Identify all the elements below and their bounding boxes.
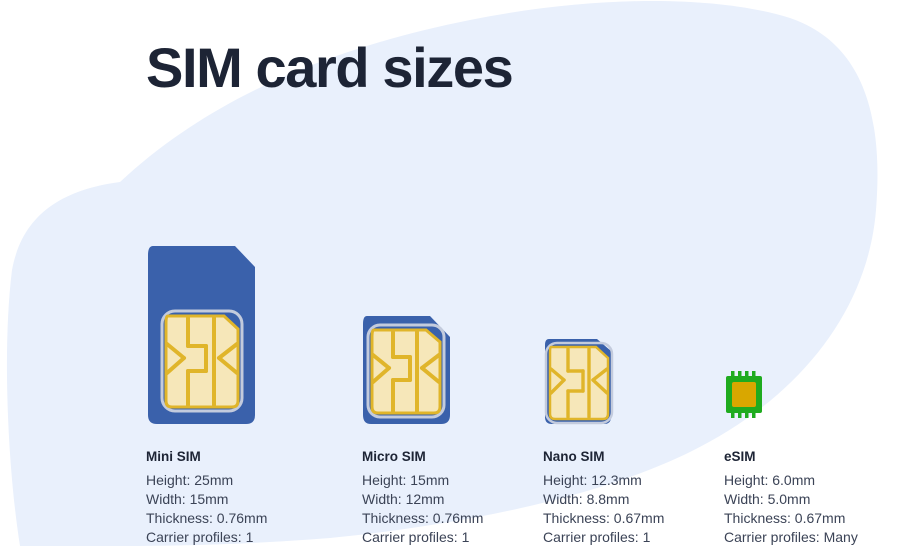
- spec-thickness-nano-sim: Thickness: 0.67mm: [543, 509, 664, 528]
- spec-profiles-esim: Carrier profiles: Many: [724, 528, 858, 547]
- mini-sim-card-icon: [145, 243, 261, 427]
- infographic-canvas: SIM card sizes: [0, 0, 918, 546]
- esim-chip-icon: [722, 370, 766, 420]
- spec-height-esim: Height: 6.0mm: [724, 471, 858, 490]
- spec-width-nano-sim: Width: 8.8mm: [543, 490, 664, 509]
- spec-profiles-micro-sim: Carrier profiles: 1: [362, 528, 483, 547]
- card-name-esim: eSIM: [724, 450, 858, 464]
- spec-column-nano-sim: Nano SIM Height: 12.3mm Width: 8.8mm Thi…: [543, 450, 664, 547]
- card-name-mini-sim: Mini SIM: [146, 450, 267, 464]
- spec-thickness-micro-sim: Thickness: 0.76mm: [362, 509, 483, 528]
- spec-height-mini-sim: Height: 25mm: [146, 471, 267, 490]
- spec-profiles-nano-sim: Carrier profiles: 1: [543, 528, 664, 547]
- spec-column-esim: eSIM Height: 6.0mm Width: 5.0mm Thicknes…: [724, 450, 858, 547]
- spec-profiles-mini-sim: Carrier profiles: 1: [146, 528, 267, 547]
- spec-width-micro-sim: Width: 12mm: [362, 490, 483, 509]
- card-name-nano-sim: Nano SIM: [543, 450, 664, 464]
- spec-thickness-esim: Thickness: 0.67mm: [724, 509, 858, 528]
- spec-width-esim: Width: 5.0mm: [724, 490, 858, 509]
- spec-height-nano-sim: Height: 12.3mm: [543, 471, 664, 490]
- spec-width-mini-sim: Width: 15mm: [146, 490, 267, 509]
- nano-sim-card-icon: [543, 337, 615, 427]
- spec-column-mini-sim: Mini SIM Height: 25mm Width: 15mm Thickn…: [146, 450, 267, 547]
- spec-thickness-mini-sim: Thickness: 0.76mm: [146, 509, 267, 528]
- spec-height-micro-sim: Height: 15mm: [362, 471, 483, 490]
- micro-sim-card-icon: [360, 313, 454, 427]
- spec-column-micro-sim: Micro SIM Height: 15mm Width: 12mm Thick…: [362, 450, 483, 547]
- card-name-micro-sim: Micro SIM: [362, 450, 483, 464]
